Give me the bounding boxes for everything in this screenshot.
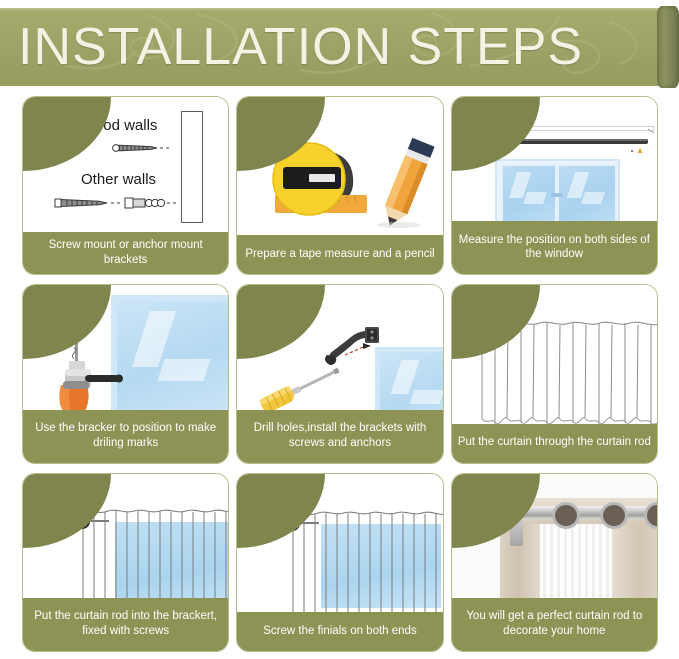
step-card-7: 7: [22, 473, 229, 652]
step-card-8: 8: [236, 473, 443, 652]
window-handle: [551, 193, 563, 197]
step-6-number: 6: [465, 286, 480, 316]
step-8-illustration: 8: [237, 474, 442, 612]
step-5-number: 5: [250, 286, 265, 316]
step-9-caption: You will get a perfect curtain rod to de…: [452, 598, 657, 651]
ornament-flourish-icon: [31, 127, 65, 145]
pane-glint: [410, 390, 443, 404]
step-9-illustration: 9: [452, 474, 657, 598]
window-pane-right: [557, 164, 617, 221]
step-1-caption: Screw mount or anchor mount brackets: [23, 232, 228, 274]
banner-body: INSTALLATION STEPS: [0, 8, 664, 86]
step-5-illustration: 5: [237, 285, 442, 409]
step-2-number: 2: [250, 98, 265, 128]
screwdriver-icon: [253, 357, 345, 409]
curtain-rod-ring: [479, 325, 494, 340]
other-walls-label: Other walls: [81, 171, 156, 188]
tape-measure-icon: [265, 141, 380, 217]
curtain-rod-ring: [285, 516, 300, 531]
step-3-caption: Measure the position on both sides of th…: [452, 221, 657, 274]
curtain-rod-ring: [75, 514, 90, 529]
banner-end-cap: [657, 6, 679, 88]
step-7-illustration: 7: [23, 474, 228, 598]
pencil-icon: [369, 133, 442, 233]
ornament-flourish-icon: [31, 315, 65, 333]
step-3-illustration: 3: [452, 97, 657, 221]
curtain-grommet: [552, 502, 580, 529]
step-card-2: 2: [236, 96, 443, 275]
step-card-9: 9: [451, 473, 658, 652]
step-6-illustration: 6: [452, 285, 657, 423]
wood-walls-label: Wood walls: [81, 117, 157, 134]
step-2-illustration: 2: [237, 97, 442, 235]
wall-panel-graphic: [181, 111, 203, 223]
wall-bracket: [510, 516, 523, 546]
window-pane-left: [501, 164, 557, 221]
step-card-6: 6: [451, 284, 658, 463]
step-1-number: 1: [36, 98, 51, 128]
step-8-caption: Screw the finials on both ends: [237, 612, 442, 651]
pane-glint: [157, 359, 210, 381]
step-5-caption: Drill holes,install the brackets with sc…: [237, 410, 442, 463]
page-title: INSTALLATION STEPS: [18, 10, 658, 84]
step-1-illustration: 1 Wood walls Other walls: [23, 97, 228, 232]
step-card-3: 3: [451, 96, 658, 275]
pane-glint: [523, 192, 547, 204]
step-card-5: 5: [236, 284, 443, 463]
step-4-caption: Use the bracker to position to make dril…: [23, 410, 228, 463]
window-graphic: [495, 159, 620, 221]
window-pane: [375, 347, 442, 409]
step-2-caption: Prepare a tape measure and a pencil: [237, 235, 442, 274]
curtain-outline-graphic: [289, 508, 442, 612]
step-7-number: 7: [36, 475, 51, 505]
power-drill-icon: [45, 337, 127, 409]
wood-screw-icon: [111, 141, 179, 155]
window-graphic: [111, 295, 228, 409]
window-pane: [111, 295, 228, 409]
header-banner: INSTALLATION STEPS: [0, 8, 679, 86]
step-card-4: 4: [22, 284, 229, 463]
pane-glint: [581, 192, 605, 204]
ornament-flourish-icon: [245, 315, 279, 333]
window-graphic: [375, 347, 442, 409]
finished-curtain-photo: [452, 474, 657, 598]
curtain-outline-graphic: [476, 319, 657, 423]
installation-steps-infographic: INSTALLATION STEPS 1 Wood walls: [0, 0, 679, 659]
anchor-screw-icon: [53, 195, 183, 211]
measuring-tape-span-icon: [458, 117, 657, 161]
step-4-number: 4: [36, 286, 51, 316]
step-7-caption: Put the curtain rod into the brackert, f…: [23, 598, 228, 651]
curtain-grommet: [600, 502, 628, 529]
step-6-caption: Put the curtain through the curtain rod: [452, 424, 657, 463]
step-card-1: 1 Wood walls Other walls: [22, 96, 229, 275]
curtain-outline-graphic: [79, 506, 228, 598]
steps-grid: 1 Wood walls Other walls: [22, 96, 658, 652]
step-4-illustration: 4: [23, 285, 228, 409]
